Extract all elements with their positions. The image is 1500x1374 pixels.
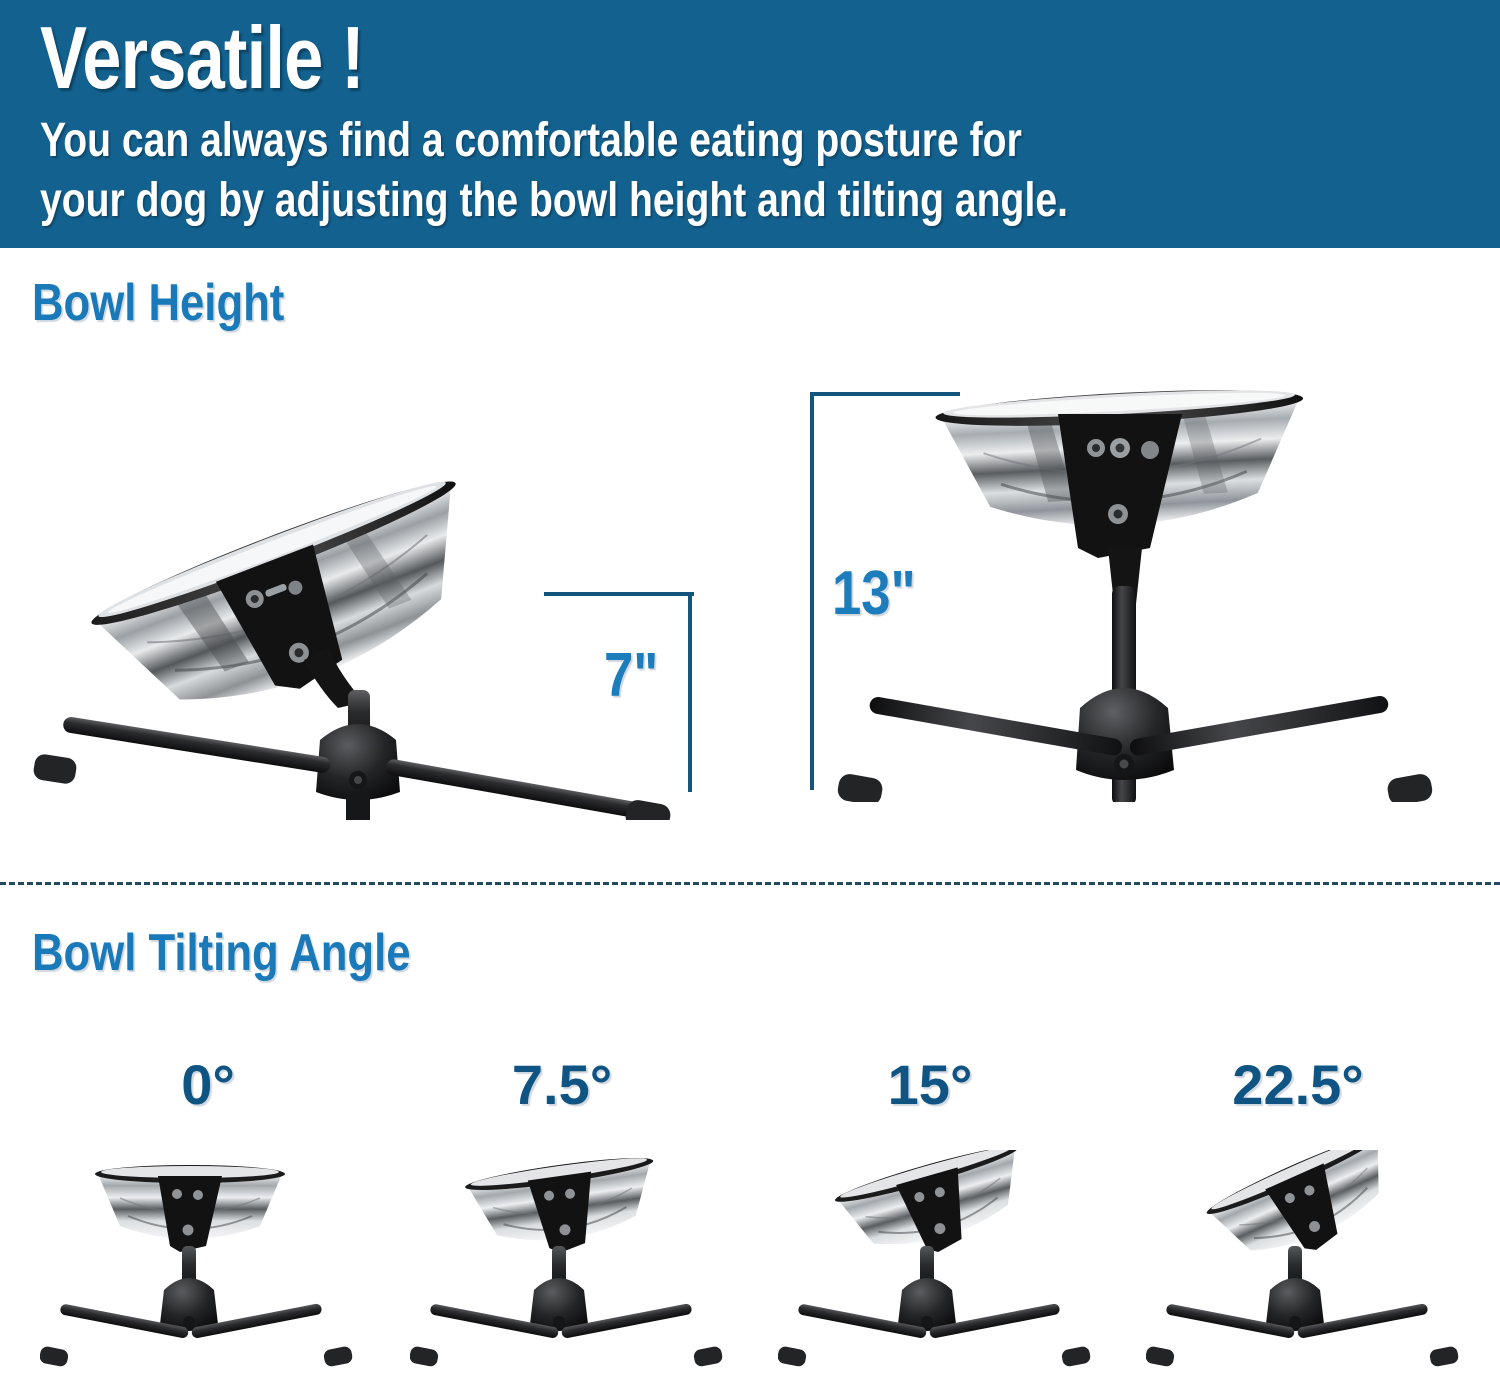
page-title: Versatile ! — [40, 12, 364, 104]
section-heading-bowl-height: Bowl Height — [32, 276, 284, 330]
dimension-tick-top-13in — [810, 392, 960, 396]
header-banner: Versatile ! You can always find a comfor… — [0, 0, 1500, 248]
dimension-label-13in: 13" — [832, 558, 916, 629]
subtitle-line-1: You can always find a comfortable eating… — [40, 116, 1022, 166]
angle-label-7p5: 7.5° — [452, 1056, 672, 1114]
dimension-tick-top-7in — [544, 592, 694, 596]
product-unit-angle-7p5 — [410, 1150, 740, 1374]
angle-label-22p5: 22.5° — [1188, 1056, 1408, 1114]
dimension-line-7in — [688, 592, 692, 792]
subtitle-line-2: your dog by adjusting the bowl height an… — [40, 176, 1068, 226]
product-unit-height-7in — [20, 440, 720, 820]
product-unit-height-13in — [830, 372, 1470, 802]
product-unit-angle-0 — [40, 1150, 370, 1374]
section-divider — [0, 882, 1500, 885]
product-unit-angle-22p5 — [1146, 1150, 1476, 1374]
angle-label-15: 15° — [820, 1056, 1040, 1114]
section-heading-bowl-tilting-angle: Bowl Tilting Angle — [32, 926, 411, 980]
product-unit-angle-15 — [778, 1150, 1108, 1374]
angle-label-0: 0° — [98, 1056, 318, 1114]
dimension-line-13in — [810, 392, 814, 790]
dimension-label-7in: 7" — [604, 640, 658, 711]
